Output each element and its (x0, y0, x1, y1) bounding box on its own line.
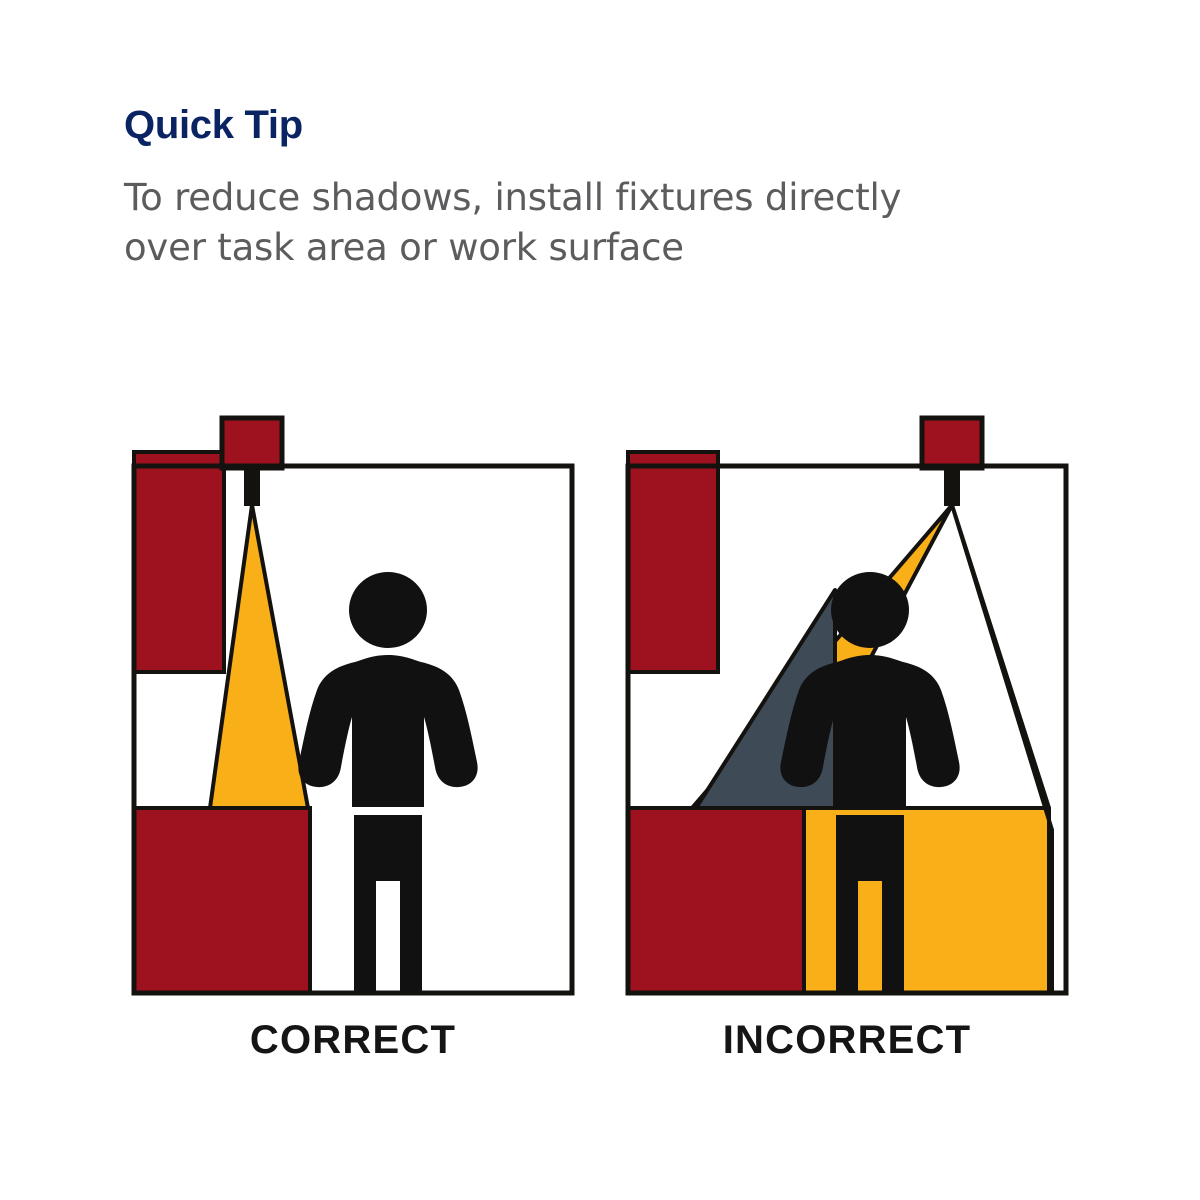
person-head (349, 572, 427, 648)
panel-incorrect: INCORRECT (614, 400, 1080, 1010)
panel-incorrect-caption: INCORRECT (614, 1018, 1080, 1063)
lower-counter (628, 808, 804, 993)
tip-description-line-2: over task area or work surface (124, 223, 1054, 273)
panel-incorrect-illustration (614, 400, 1080, 1010)
upper-cabinet (134, 452, 224, 672)
lower-counter (134, 808, 310, 993)
page-title: Quick Tip (124, 104, 1084, 147)
illustration-area: CORRECT (0, 400, 1200, 1100)
panel-correct-illustration (120, 400, 586, 1010)
person-torso (780, 655, 959, 807)
tip-description: To reduce shadows, install fixtures dire… (124, 173, 1054, 273)
tip-description-line-1: To reduce shadows, install fixtures dire… (124, 173, 1054, 223)
panel-correct: CORRECT (120, 400, 586, 1010)
fixture-stem (244, 466, 260, 506)
fixture-stem (944, 466, 960, 506)
person-torso (298, 655, 477, 807)
panel-correct-caption: CORRECT (120, 1018, 586, 1063)
tip-header: Quick Tip To reduce shadows, install fix… (124, 104, 1084, 273)
ceiling-light-fixture (222, 418, 282, 468)
upper-cabinet (628, 452, 718, 672)
person-head (831, 572, 909, 648)
ceiling-light-fixture (922, 418, 982, 468)
